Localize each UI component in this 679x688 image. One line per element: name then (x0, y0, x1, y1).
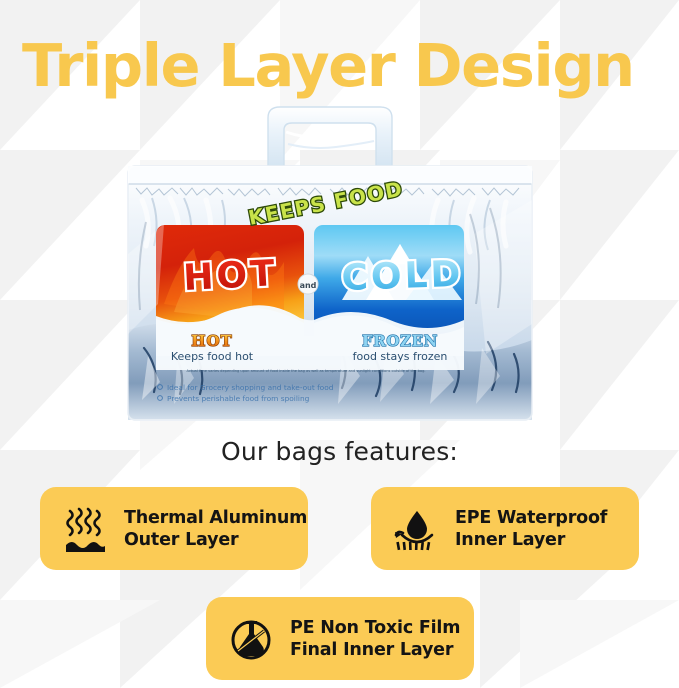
svg-text:Keeps food hot: Keeps food hot (171, 350, 254, 363)
page-title: Triple Layer Design (22, 35, 662, 97)
feature-line-1: Thermal Aluminum (124, 508, 307, 528)
label-cold-word: COLD (341, 254, 464, 299)
svg-text:HOT: HOT (191, 332, 232, 350)
svg-text:HOT: HOT (182, 253, 278, 299)
svg-text:Prevents perishable food from: Prevents perishable food from spoiling (167, 394, 310, 403)
svg-text:and: and (300, 281, 317, 290)
svg-text:COLD: COLD (341, 254, 464, 299)
feature-line-1: PE Non Toxic Film (290, 618, 460, 638)
label-disclaimer: Actual time varies depending upon amount… (186, 369, 425, 373)
feature-label: EPE Waterproof Inner Layer (455, 507, 607, 551)
infographic-canvas: Triple Layer Design (0, 0, 679, 688)
feature-line-1: EPE Waterproof (455, 508, 607, 528)
feature-line-2: Inner Layer (455, 529, 607, 551)
feature-card-pe-non-toxic[interactable]: PE Non Toxic Film Final Inner Layer (206, 597, 474, 680)
bag-body: KEEPS FOOD HOT and COLD (128, 166, 532, 420)
feature-line-2: Final Inner Layer (290, 639, 460, 661)
svg-text:food stays frozen: food stays frozen (353, 350, 448, 363)
label-frozen-title: FROZEN food stays frozen (353, 332, 448, 363)
feature-card-thermal-aluminum[interactable]: Thermal Aluminum Outer Layer (40, 487, 308, 570)
feature-label: Thermal Aluminum Outer Layer (124, 507, 307, 551)
water-droplet-repel-icon (393, 505, 439, 553)
svg-text:Ideal for Grocery shopping and: Ideal for Grocery shopping and take-out … (167, 383, 334, 392)
no-chemicals-flask-icon (228, 615, 274, 663)
feature-label: PE Non Toxic Film Final Inner Layer (290, 617, 460, 661)
label-hot-word: HOT (182, 253, 278, 299)
feature-line-2: Outer Layer (124, 529, 307, 551)
label-and-badge: and (298, 274, 318, 294)
bag-handle (268, 107, 392, 166)
heat-waves-icon (62, 505, 108, 553)
feature-card-epe-waterproof[interactable]: EPE Waterproof Inner Layer (371, 487, 639, 570)
features-heading: Our bags features: (0, 437, 679, 466)
svg-text:FROZEN: FROZEN (362, 332, 438, 350)
product-image-thermal-bag: KEEPS FOOD HOT and COLD (118, 104, 542, 422)
